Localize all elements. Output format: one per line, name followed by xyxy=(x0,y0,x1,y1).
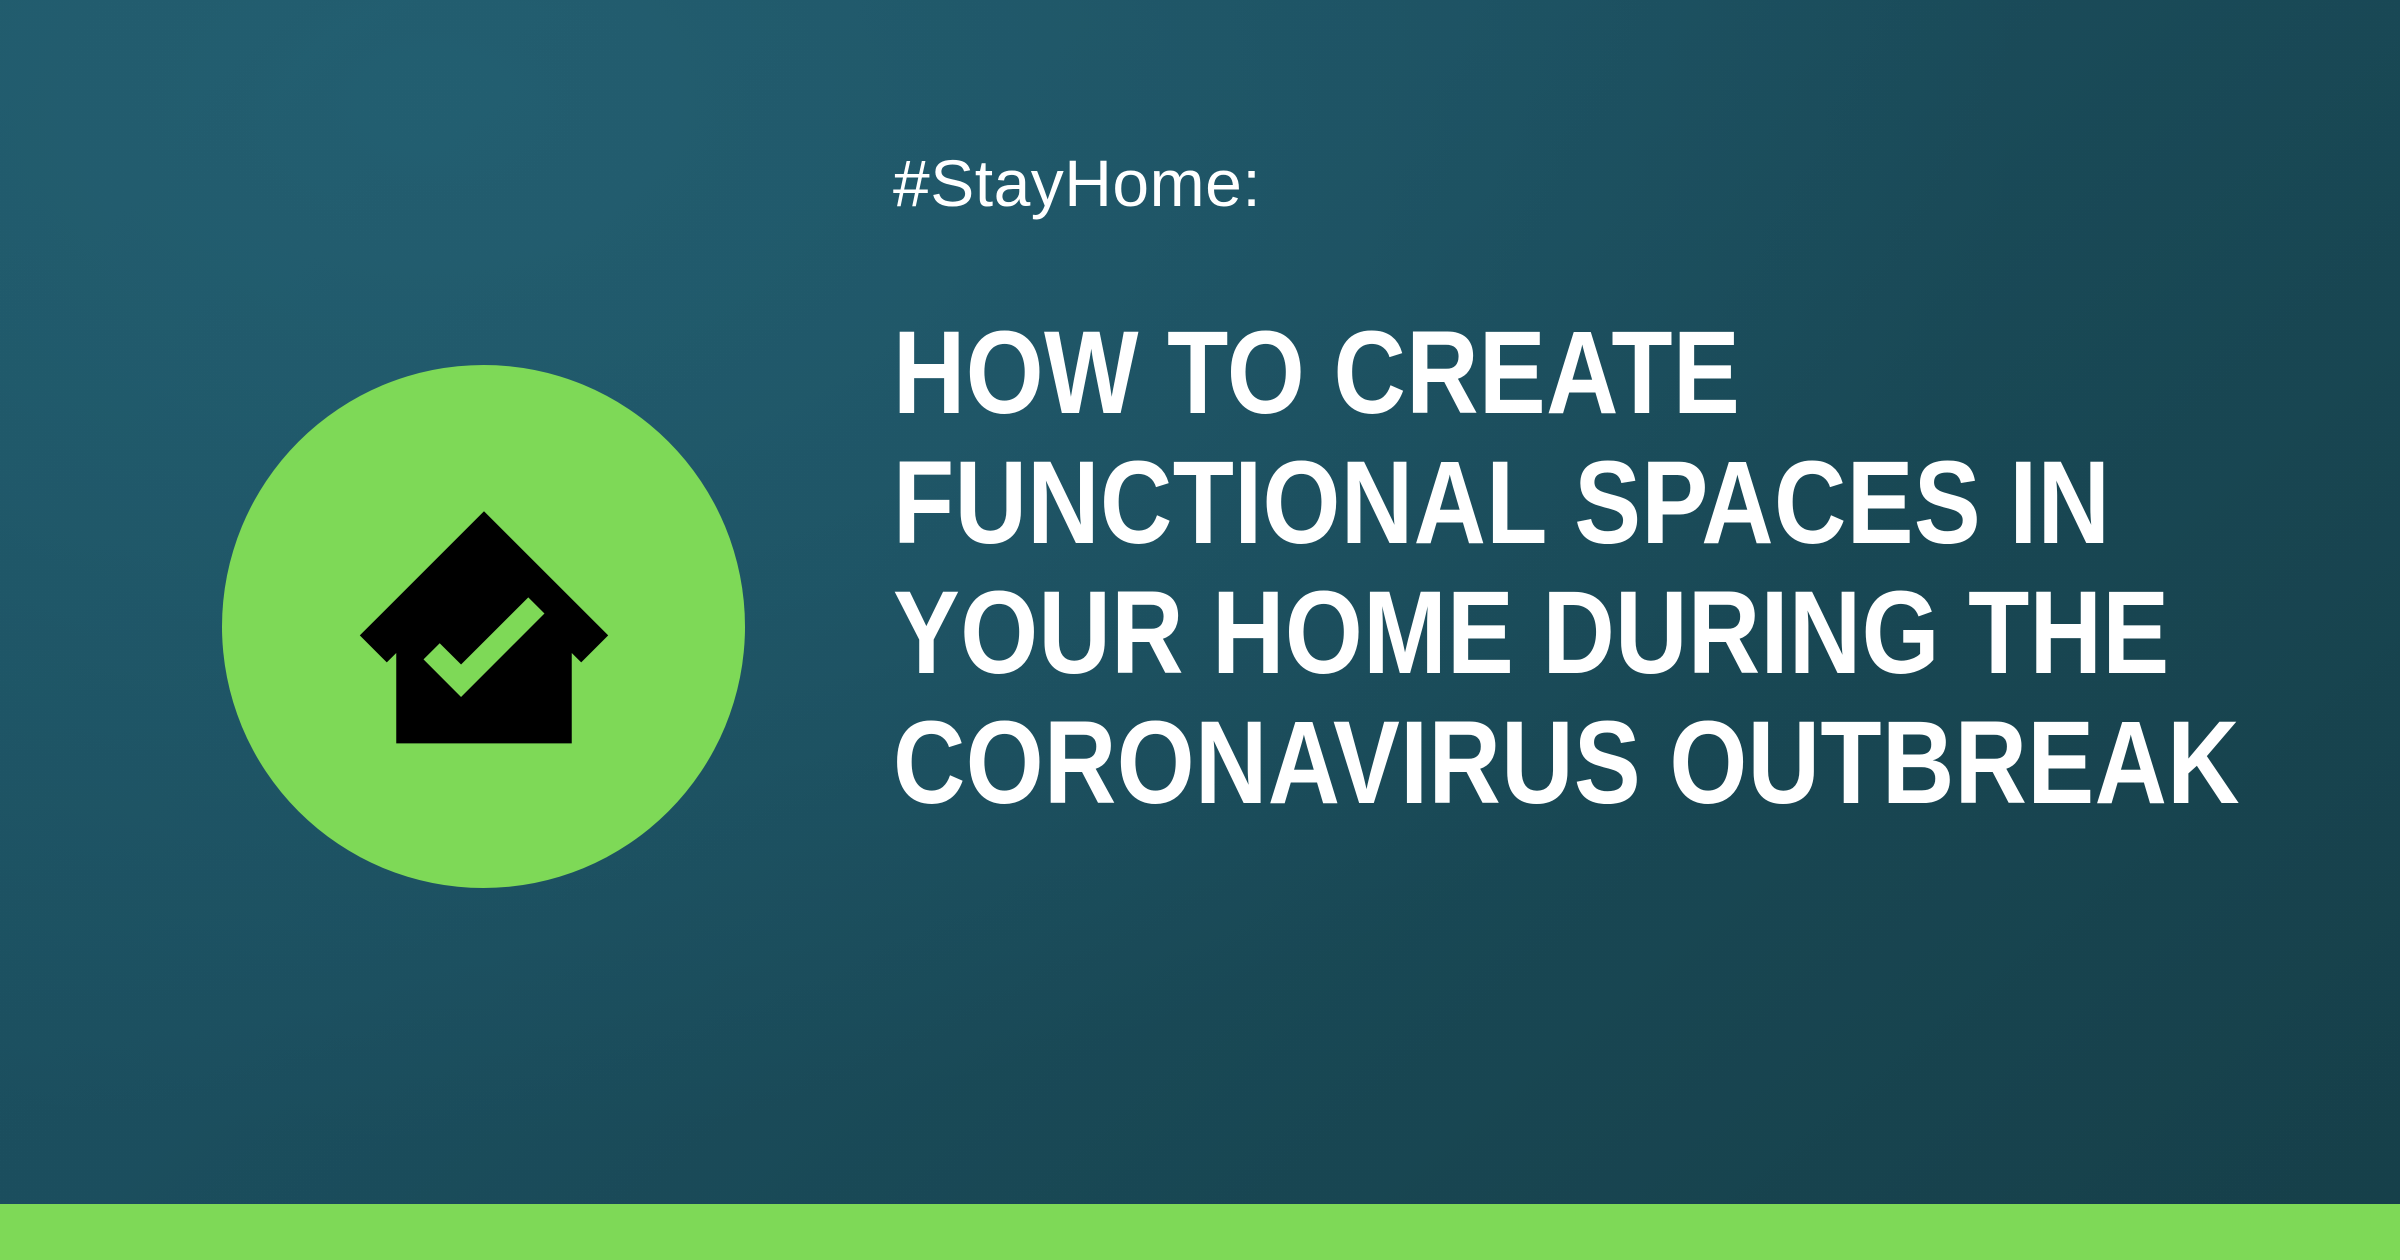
headline-line-1: HOW TO CREATE xyxy=(893,308,2274,438)
headline-line-3: YOUR HOME DURING THE xyxy=(893,568,2274,698)
banner-canvas: #StayHome: HOW TO CREATE FUNCTIONAL SPAC… xyxy=(0,0,2400,1260)
kicker-hashtag: #StayHome: xyxy=(893,150,2323,216)
house-with-checkmark-icon xyxy=(349,489,619,765)
text-column: #StayHome: HOW TO CREATE FUNCTIONAL SPAC… xyxy=(893,150,2323,828)
headline-line-2: FUNCTIONAL SPACES IN xyxy=(893,438,2274,568)
headline: HOW TO CREATE FUNCTIONAL SPACES IN YOUR … xyxy=(893,308,2274,828)
headline-line-4: CORONAVIRUS OUTBREAK xyxy=(893,698,2274,828)
house-badge xyxy=(222,365,745,888)
bottom-accent-bar xyxy=(0,1204,2400,1260)
